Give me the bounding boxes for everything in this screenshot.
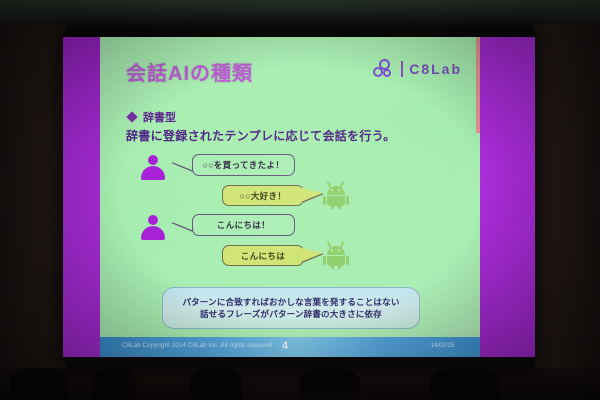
footer-copyright: C8Lab Copyright 2014 C8Lab Inc. All righ…: [122, 343, 272, 349]
footer-page-number: 4: [282, 340, 288, 352]
summary-line-2: 話せるフレーズがパターン辞書の大きさに依存: [200, 308, 382, 320]
chat-bubble-user: ○○を買ってきたよ！: [192, 154, 295, 176]
audience-silhouette: [10, 368, 68, 400]
person-icon: [140, 155, 166, 181]
chat-bubble-bot: こんにちは: [222, 245, 304, 266]
android-robot-icon: [324, 241, 348, 268]
diamond-bullet-icon: [126, 111, 137, 122]
projector-overscan-band-right: [480, 37, 535, 357]
chat-bubble-user: こんにちは！: [192, 214, 295, 236]
page-title: 会話AIの種類: [126, 57, 253, 86]
gears-icon: [373, 59, 395, 79]
chat-bubble-bot: ○○大好き！: [222, 185, 304, 206]
summary-callout: パターンに合致すればおかしな言葉を発することはない 話せるフレーズがパターン辞書…: [162, 287, 420, 329]
projected-image-area: 会話AIの種類 C8Lab 辞書型 辞書に登録されたテンプレに応じて会話を行う。: [63, 37, 535, 357]
bullet-heading-label: 辞書型: [143, 109, 176, 125]
logo-divider: [401, 61, 403, 77]
brand-logo: C8Lab: [373, 59, 462, 79]
speech-tail-bot: [301, 248, 323, 262]
audience-silhouette: [190, 368, 242, 400]
room-wall-top: [0, 0, 600, 30]
speech-tail-user: [172, 217, 194, 231]
room-floor-bottom: [0, 368, 600, 400]
projector-overscan-band-left: [63, 37, 100, 357]
android-robot-icon: [324, 181, 348, 208]
speech-tail-bot: [301, 188, 323, 202]
audience-silhouette: [300, 368, 360, 400]
audience-silhouette: [92, 368, 136, 400]
projection-screen: 会話AIの種類 C8Lab 辞書型 辞書に登録されたテンプレに応じて会話を行う。: [63, 31, 535, 363]
slide-footer: C8Lab Copyright 2014 C8Lab Inc. All righ…: [100, 337, 480, 357]
slide-edge-artifact: [476, 37, 480, 133]
audience-silhouette: [430, 368, 500, 400]
summary-line-1: パターンに合致すればおかしな言葉を発することはない: [182, 296, 399, 308]
lead-paragraph: 辞書に登録されたテンプレに応じて会話を行う。: [126, 127, 396, 144]
speech-tail-user: [172, 157, 194, 171]
person-icon: [140, 215, 166, 241]
room-wall-right: [534, 24, 600, 372]
presentation-slide: 会話AIの種類 C8Lab 辞書型 辞書に登録されたテンプレに応じて会話を行う。: [100, 37, 480, 357]
photo-of-projected-slide: 会話AIの種類 C8Lab 辞書型 辞書に登録されたテンプレに応じて会話を行う。: [0, 0, 600, 400]
room-wall-left: [0, 24, 66, 372]
bullet-heading: 辞書型: [128, 109, 176, 125]
brand-name: C8Lab: [409, 61, 462, 77]
footer-date: 14/02/15: [431, 343, 454, 349]
